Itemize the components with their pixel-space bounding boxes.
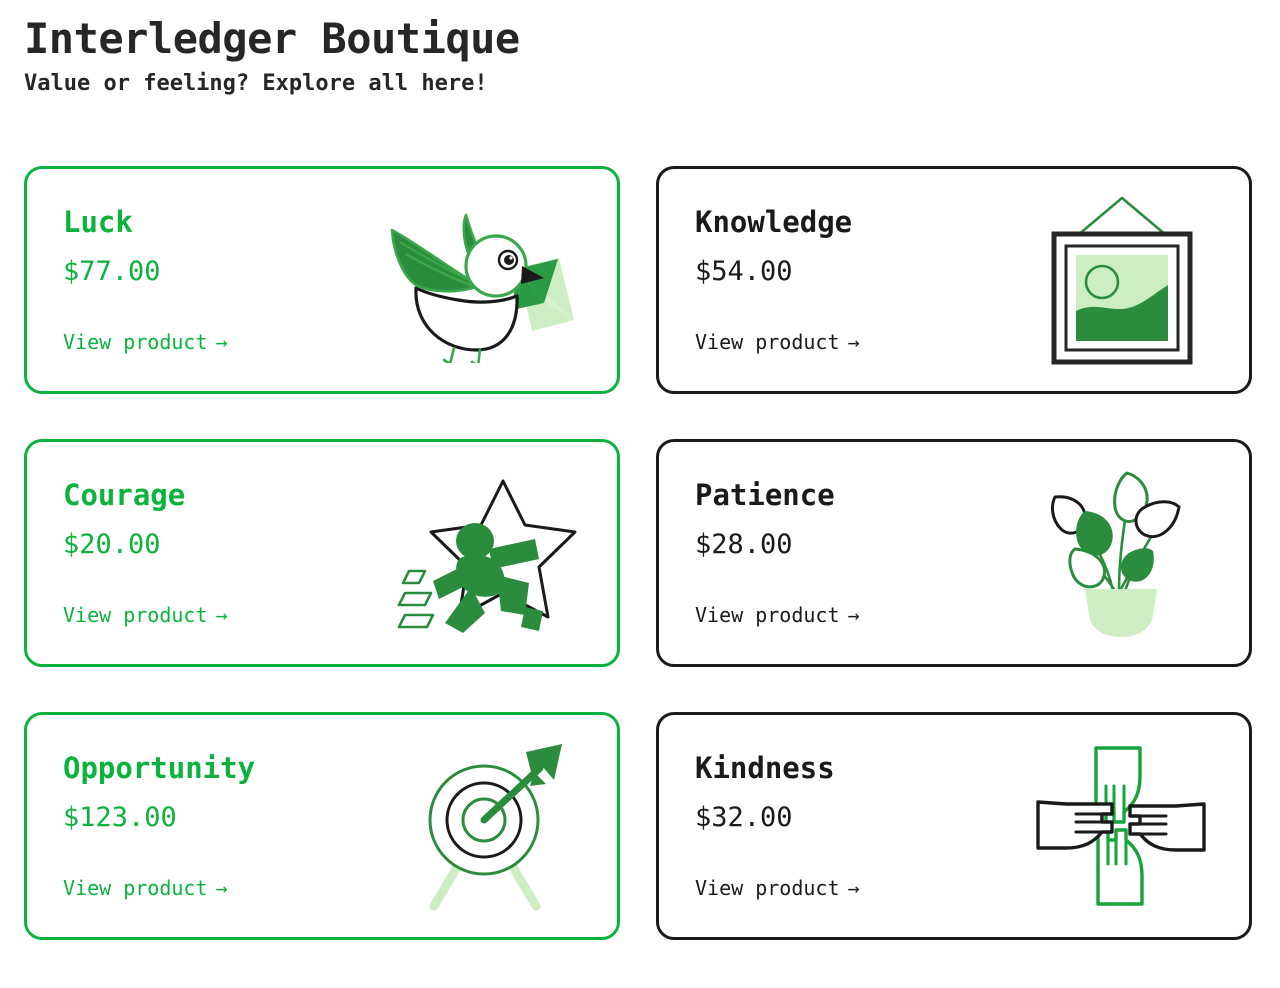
- view-product-label: View product: [63, 603, 208, 627]
- view-product-link[interactable]: View product→: [63, 877, 228, 899]
- product-card[interactable]: Knowledge$54.00View product→: [656, 166, 1252, 394]
- product-title: Luck: [63, 207, 357, 239]
- arrow-right-icon: →: [848, 876, 860, 900]
- product-catalog-page: Interledger Boutique Value or feeling? E…: [0, 0, 1280, 988]
- arrow-right-icon: →: [216, 603, 228, 627]
- view-product-label: View product: [63, 330, 208, 354]
- running-person-star-icon: [369, 442, 609, 664]
- product-price: $54.00: [695, 257, 989, 287]
- product-price: $77.00: [63, 257, 357, 287]
- page-subtitle: Value or feeling? Explore all here!: [24, 70, 520, 99]
- view-product-link[interactable]: View product→: [63, 604, 228, 626]
- view-product-link[interactable]: View product→: [695, 331, 860, 353]
- view-product-label: View product: [63, 876, 208, 900]
- product-card-text: Opportunity$123.00View product→: [27, 753, 357, 900]
- product-title: Opportunity: [63, 753, 357, 785]
- product-card[interactable]: Patience$28.00View product→: [656, 439, 1252, 667]
- arrow-right-icon: →: [848, 603, 860, 627]
- page-header: Interledger Boutique Value or feeling? E…: [24, 14, 520, 98]
- product-card-text: Patience$28.00View product→: [659, 480, 989, 627]
- product-price: $28.00: [695, 530, 989, 560]
- four-hands-icon: [1001, 715, 1241, 937]
- product-card-text: Knowledge$54.00View product→: [659, 207, 989, 354]
- product-card[interactable]: Kindness$32.00View product→: [656, 712, 1252, 940]
- product-title: Kindness: [695, 753, 989, 785]
- view-product-link[interactable]: View product→: [695, 604, 860, 626]
- product-card[interactable]: Luck$77.00View product→: [24, 166, 620, 394]
- arrow-right-icon: →: [216, 876, 228, 900]
- product-card-text: Courage$20.00View product→: [27, 480, 357, 627]
- product-title: Courage: [63, 480, 357, 512]
- page-title: Interledger Boutique: [24, 14, 520, 64]
- bird-with-envelope-icon: [369, 169, 609, 391]
- product-card[interactable]: Opportunity$123.00View product→: [24, 712, 620, 940]
- product-card-text: Kindness$32.00View product→: [659, 753, 989, 900]
- arrow-right-icon: →: [216, 330, 228, 354]
- view-product-label: View product: [695, 876, 840, 900]
- product-price: $32.00: [695, 803, 989, 833]
- product-price: $20.00: [63, 530, 357, 560]
- product-title: Patience: [695, 480, 989, 512]
- arrow-right-icon: →: [848, 330, 860, 354]
- view-product-label: View product: [695, 603, 840, 627]
- product-card[interactable]: Courage$20.00View product→: [24, 439, 620, 667]
- view-product-link[interactable]: View product→: [63, 331, 228, 353]
- target-with-dart-icon: [369, 715, 609, 937]
- view-product-link[interactable]: View product→: [695, 877, 860, 899]
- product-card-text: Luck$77.00View product→: [27, 207, 357, 354]
- framed-picture-icon: [1001, 169, 1241, 391]
- product-price: $123.00: [63, 803, 357, 833]
- product-title: Knowledge: [695, 207, 989, 239]
- potted-plant-icon: [1001, 442, 1241, 664]
- product-grid: Luck$77.00View product→ Knowledge$54.00V…: [24, 166, 1254, 940]
- view-product-label: View product: [695, 330, 840, 354]
